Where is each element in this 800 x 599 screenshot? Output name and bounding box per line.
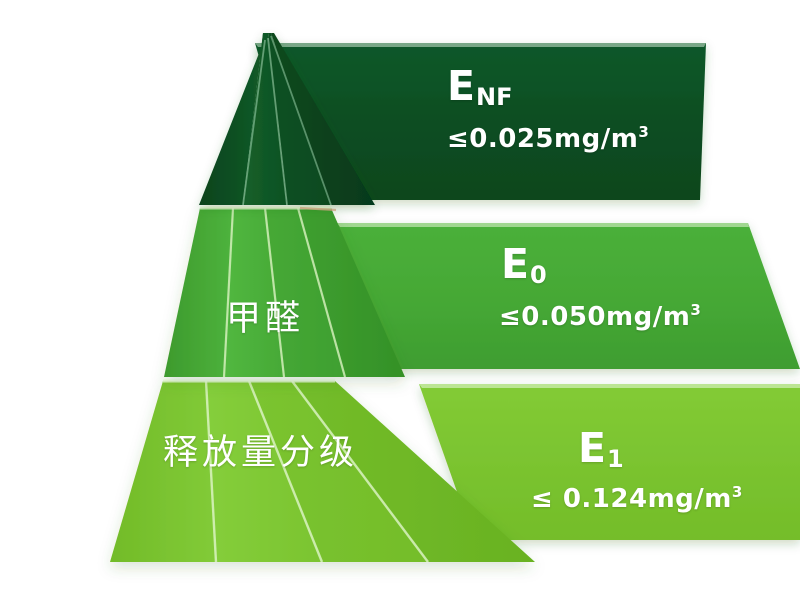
band-e0-shape[interactable]	[337, 223, 800, 369]
pyramid-diagram	[0, 0, 800, 599]
infographic-canvas: 甲醛 释放量分级 ENF ≤0.025mg/m3 E0 ≤0.050mg/m3 …	[0, 0, 800, 599]
